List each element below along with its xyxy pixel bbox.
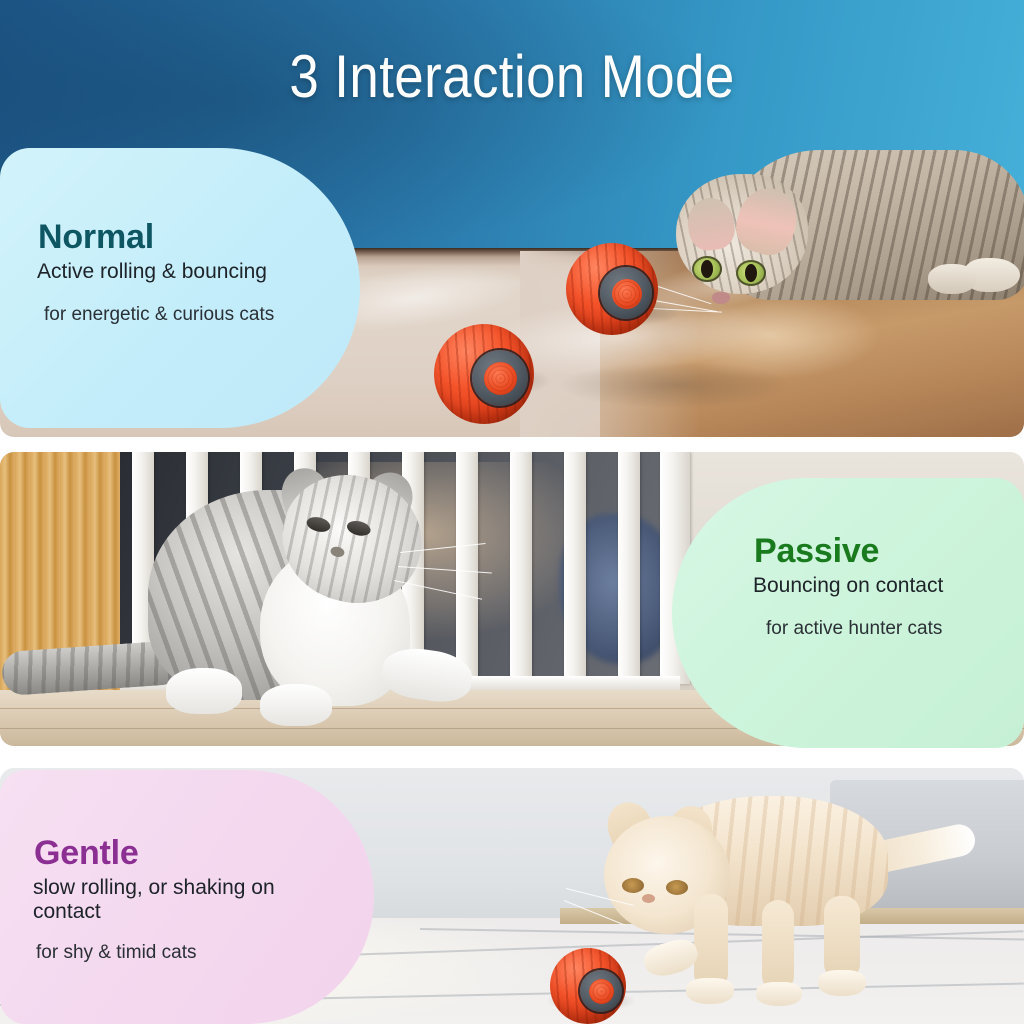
cat-eye-left [622, 878, 644, 893]
cat-eye-left [692, 256, 722, 282]
mode-title-gentle: Gentle [34, 836, 374, 872]
cat-photo-tabby [676, 136, 1024, 318]
cat-paw-back [928, 264, 976, 294]
cat-leg-mid [762, 900, 794, 992]
ball-center-disc [484, 362, 517, 395]
cat-nose [642, 894, 655, 903]
cat-pupil [745, 264, 757, 282]
cat-head [676, 174, 808, 294]
mode-title-passive: Passive [754, 534, 1024, 570]
cat-ear-left [685, 195, 738, 253]
cat-paw-reaching [379, 644, 475, 706]
cat-eye-left [305, 515, 332, 534]
product-ball-upper [566, 243, 658, 335]
page-title: 3 Interaction Mode [61, 42, 962, 111]
cat-ear-right [730, 181, 804, 260]
gate-bar [564, 452, 586, 684]
mode-note-normal: for energetic & curious cats [44, 304, 344, 326]
mode-note-passive: for active hunter cats [766, 618, 1024, 640]
product-ball-lower [434, 324, 534, 424]
mode-subtitle-gentle: slow rolling, or shaking on contact [33, 876, 321, 924]
cat-paw-raised [641, 935, 702, 981]
mode-subtitle-normal: Active rolling & bouncing [37, 260, 327, 284]
cat-eye-right [736, 260, 766, 286]
product-ball-panel3 [550, 948, 626, 1024]
cat-photo-gray-white [132, 468, 502, 736]
product-infographic: 3 Interaction Mode [0, 0, 1024, 1024]
mode-card-passive: Passive Bouncing on contact for active h… [672, 478, 1024, 748]
cat-paw-front [686, 978, 734, 1004]
cat-leg-front [694, 894, 728, 990]
cat-leg-rear [824, 896, 860, 980]
cat-nose [712, 292, 730, 304]
cat-paw-front-left [166, 668, 242, 714]
mode-title-normal: Normal [38, 220, 360, 256]
mode-card-gentle: Gentle slow rolling, or shaking on conta… [0, 770, 374, 1024]
cat-eye-right [666, 880, 688, 895]
cat-paw-rear [818, 970, 866, 996]
mode-card-normal: Normal Active rolling & bouncing for ene… [0, 148, 360, 428]
cat-eye-right [345, 519, 372, 538]
cat-pupil [701, 260, 713, 278]
ball-center-disc [589, 979, 614, 1004]
gate-bar [510, 452, 532, 684]
cat-paw-front-right [260, 684, 332, 726]
cat-paw-mid [756, 982, 802, 1006]
mode-subtitle-passive: Bouncing on contact [753, 574, 1023, 598]
mode-note-gentle: for shy & timid cats [36, 942, 336, 964]
gate-bar [618, 452, 640, 684]
ball-center-disc [612, 279, 642, 309]
cat-whisker [394, 580, 482, 600]
cat-nose [329, 545, 345, 558]
